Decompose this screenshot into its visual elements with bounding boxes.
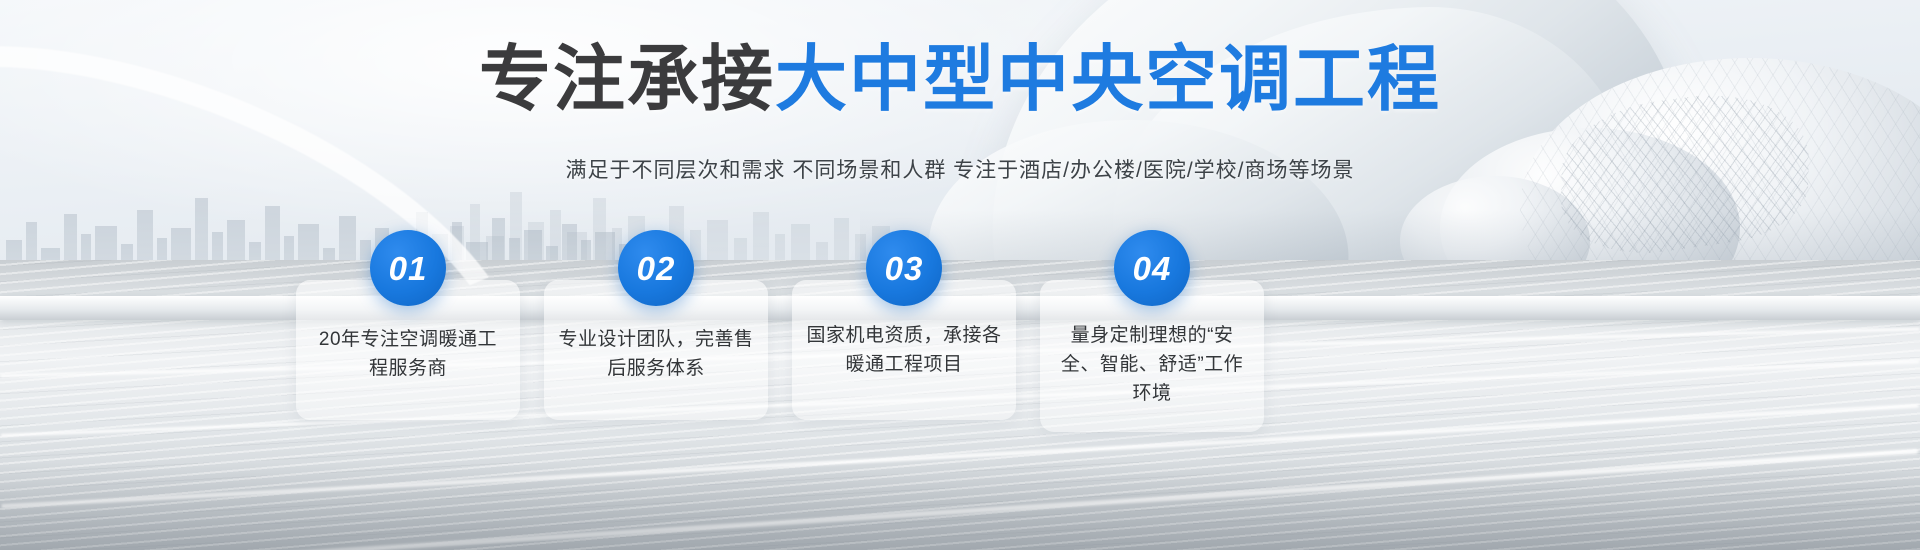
step-number-label: 03 [885,252,924,285]
feature-card-text: 20年专注空调暖通工程服务商 [310,326,506,384]
feature-card-text: 量身定制理想的“安全、智能、舒适”工作环境 [1054,322,1250,409]
step-number-badge: 01 [370,230,446,306]
feature-card[interactable]: 03 国家机电资质，承接各暖通工程项目 [792,280,1016,420]
feature-card[interactable]: 04 量身定制理想的“安全、智能、舒适”工作环境 [1040,280,1264,432]
feature-card[interactable]: 01 20年专注空调暖通工程服务商 [296,280,520,420]
page-title: 专注承接大中型中央空调工程 [0,44,1920,116]
step-number-badge: 02 [618,230,694,306]
step-number-label: 02 [637,252,676,285]
highway-foreground-shade [0,462,1920,550]
step-number-label: 04 [1133,252,1172,285]
page-subtitle: 满足于不同层次和需求 不同场景和人群 专注于酒店/办公楼/医院/学校/商场等场景 [0,154,1920,184]
feature-card[interactable]: 02 专业设计团队，完善售后服务体系 [544,280,768,420]
feature-card-text: 国家机电资质，承接各暖通工程项目 [806,322,1002,380]
step-number-label: 01 [389,252,428,285]
step-number-badge: 04 [1114,230,1190,306]
headline-highlight: 大中型中央空调工程 [775,40,1441,120]
step-number-badge: 03 [866,230,942,306]
hero-banner: 专注承接大中型中央空调工程 满足于不同层次和需求 不同场景和人群 专注于酒店/办… [0,0,1920,550]
feature-card-list: 01 20年专注空调暖通工程服务商 02 专业设计团队，完善售后服务体系 03 … [296,280,1296,430]
headline-prefix: 专注承接 [479,40,775,120]
feature-card-text: 专业设计团队，完善售后服务体系 [558,326,754,384]
